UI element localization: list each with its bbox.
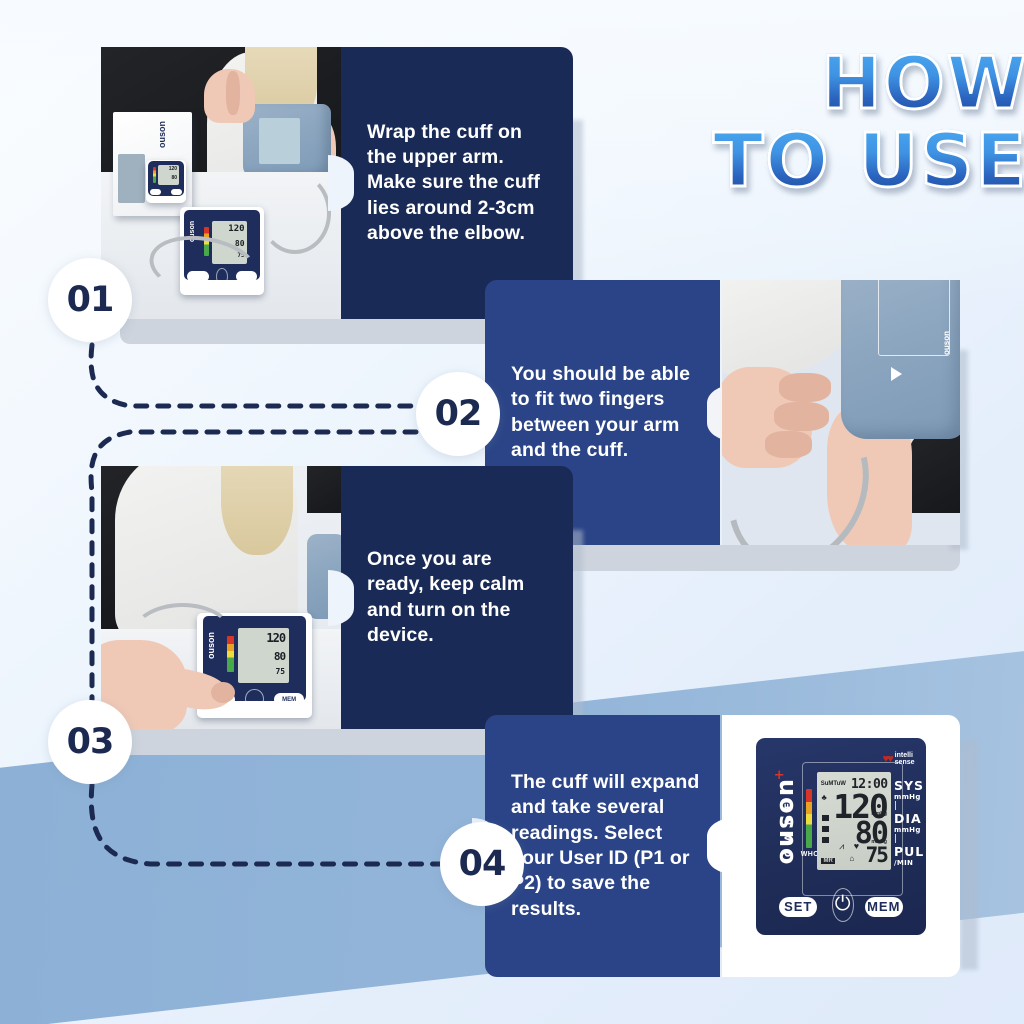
- step-4-side-shadow: [960, 740, 978, 970]
- label-pul: PUL: [894, 844, 923, 859]
- mem-button[interactable]: MEM: [865, 897, 903, 918]
- monitor-lcd: SuMTuW 12:00 ♣ 120 mmHg 80 mmHg 75 ⩘ ♥: [817, 772, 891, 870]
- blood-pressure-monitor: + ouson C A R E ♥♥ intelli sense: [738, 729, 944, 963]
- step-4-number: 04: [459, 844, 506, 884]
- label-sys: SYS: [894, 778, 923, 793]
- set-button[interactable]: SET: [779, 897, 817, 918]
- lcd-day-icons: SuMTuW: [821, 781, 846, 787]
- title-line-how: HOW: [648, 48, 1024, 119]
- monitor-unit-labels: SYS mmHg | DIA mmHg | PUL /MIN: [894, 778, 923, 867]
- step-3-badge: 03: [48, 700, 132, 784]
- label-divider-2: |: [894, 834, 923, 844]
- step-2-badge: 02: [416, 372, 500, 456]
- logo-line-1: intelli: [895, 752, 915, 759]
- lcd-bar-3: [822, 837, 829, 843]
- lcd-pulse-wave-icon: ⩘: [839, 841, 844, 852]
- page-title: HOW TO USE: [648, 48, 1024, 197]
- step-3-text: Once you are ready, keep calm and turn o…: [341, 547, 573, 648]
- monitor-brand: + ouson C A R E: [764, 778, 796, 888]
- lcd-clover-icon: ♣: [821, 793, 826, 802]
- infographic-canvas: HOW TO USE: [0, 0, 1024, 1024]
- who-classification-bar: [806, 789, 812, 848]
- title-line-to-use: TO USE: [648, 125, 1024, 198]
- step-3-number: 03: [67, 722, 114, 762]
- step-3-text-card: Once you are ready, keep calm and turn o…: [341, 466, 573, 729]
- lcd-bar-2: [822, 826, 829, 832]
- label-pul-unit: /MIN: [894, 859, 923, 867]
- lcd-memory-tag: MR: [821, 858, 834, 864]
- step-4-photo: + ouson C A R E ♥♥ intelli sense: [722, 715, 960, 977]
- step-2-text: You should be able to fit two fingers be…: [485, 362, 720, 463]
- lcd-bar-1: [822, 815, 829, 821]
- brand-sub: C A R E: [784, 800, 794, 857]
- monitor-body: + ouson C A R E ♥♥ intelli sense: [756, 738, 927, 935]
- step-2-number: 02: [435, 394, 482, 434]
- step-2-photo: ouson: [722, 280, 960, 545]
- label-dia-unit: mmHg: [894, 826, 923, 834]
- power-button[interactable]: ⏻: [832, 888, 854, 922]
- step-1-text: Wrap the cuff on the upper arm. Make sur…: [341, 120, 573, 247]
- lcd-pulse-value: 75: [866, 843, 887, 867]
- label-sys-unit: mmHg: [894, 793, 923, 801]
- step-3-photo: ouson 120 80 75 SET MEM: [101, 466, 341, 729]
- label-dia: DIA: [894, 811, 923, 826]
- step-4-badge: 04: [440, 822, 524, 906]
- lcd-bell-icon: ⌂: [849, 854, 854, 863]
- step-1-badge: 01: [48, 258, 132, 342]
- dash-01-to-02: [91, 345, 416, 406]
- step-1-number: 01: [67, 280, 114, 320]
- step-1-text-card: Wrap the cuff on the upper arm. Make sur…: [341, 47, 573, 319]
- label-divider-1: |: [894, 801, 923, 811]
- step-1-photo: ouson 120 80 ouson: [101, 47, 341, 319]
- lcd-heart-icon: ♥: [854, 841, 859, 851]
